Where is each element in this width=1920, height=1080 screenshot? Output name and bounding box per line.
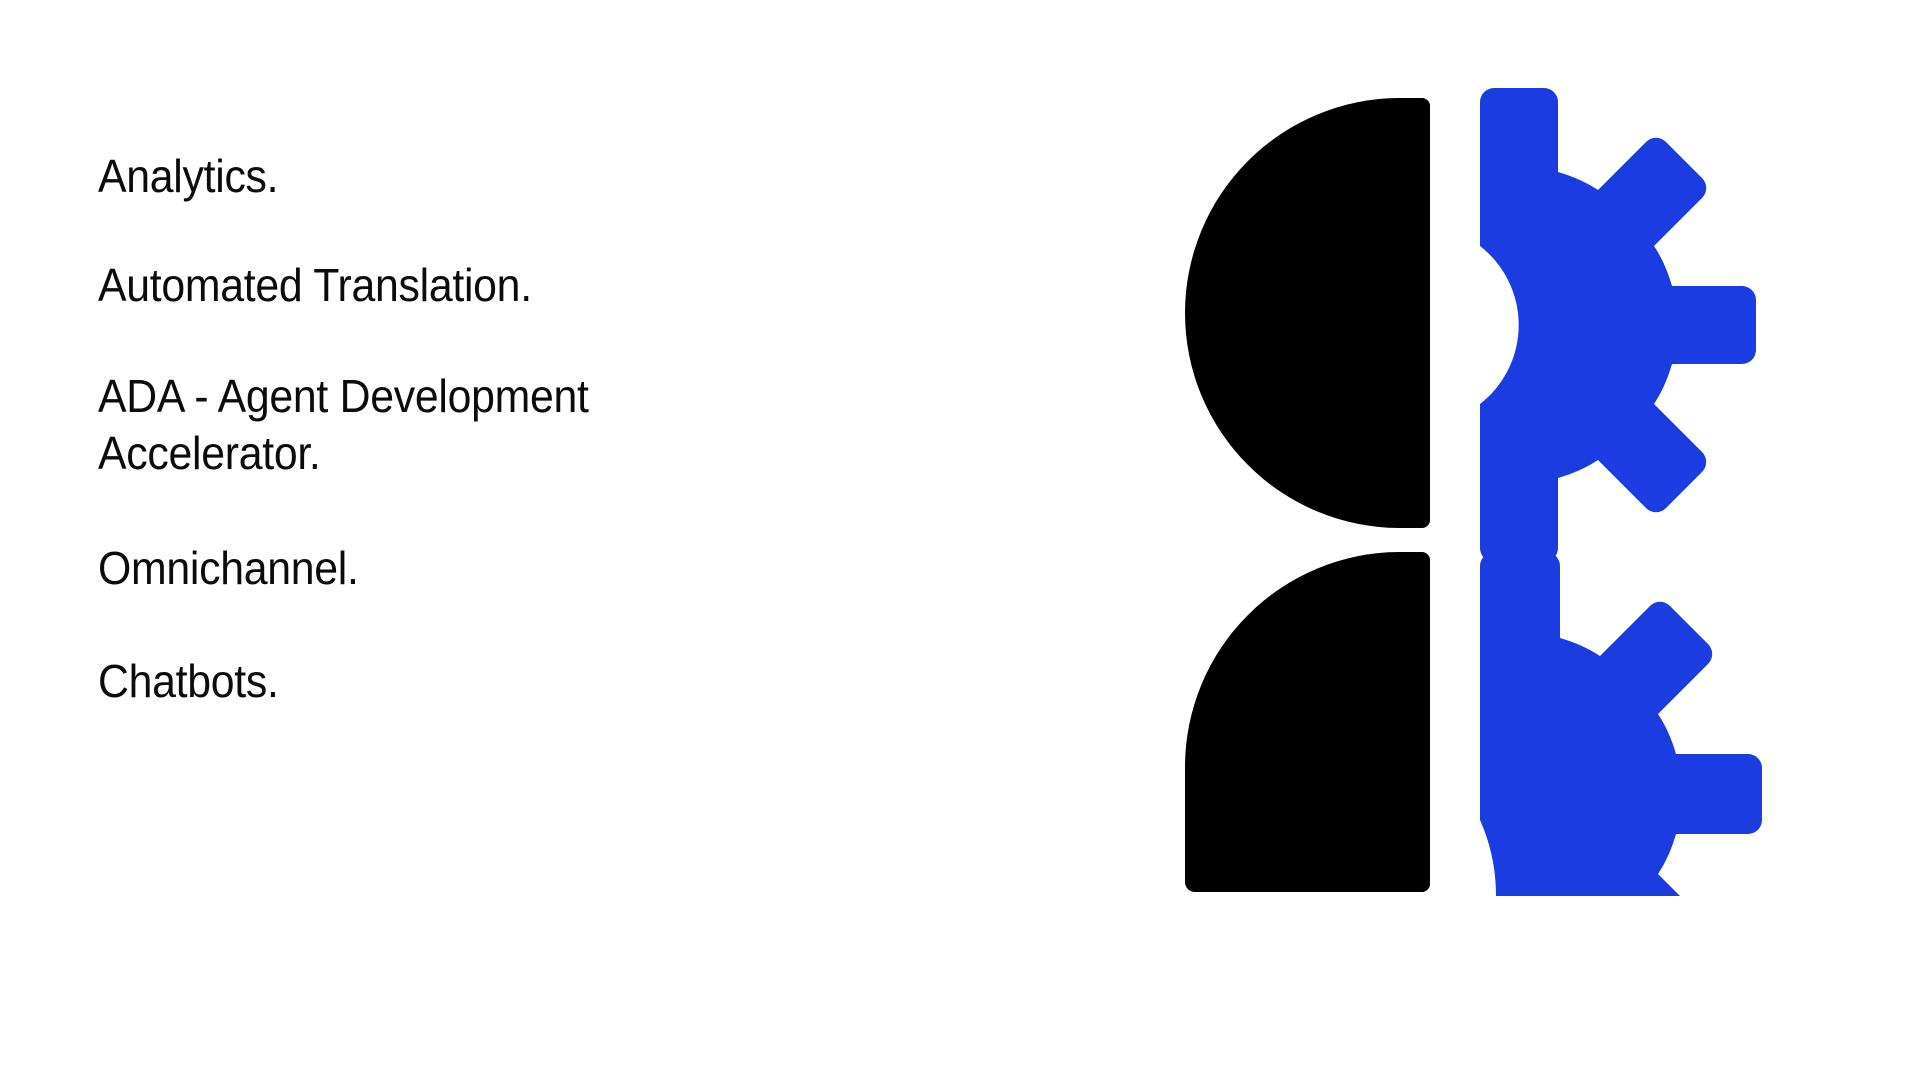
top-left-half-circle-icon [1185,98,1430,528]
list-item: Automated Translation. [98,257,823,314]
slide-canvas: Analytics. Automated Translation. ADA - … [0,0,1920,1080]
bottom-right-gear-quarter-icon [1480,552,1762,896]
list-item: ADA - Agent Development Accelerator. [98,368,823,482]
brand-logo-mark [1060,80,1880,920]
logo-svg [1060,80,1880,920]
feature-list: Analytics. Automated Translation. ADA - … [98,148,878,710]
list-item: Analytics. [98,148,823,205]
top-right-gear-half-icon [1480,88,1756,562]
bottom-left-quarter-circle-icon [1185,552,1430,892]
list-item: Omnichannel. [98,540,823,597]
list-item: Chatbots. [98,653,823,710]
